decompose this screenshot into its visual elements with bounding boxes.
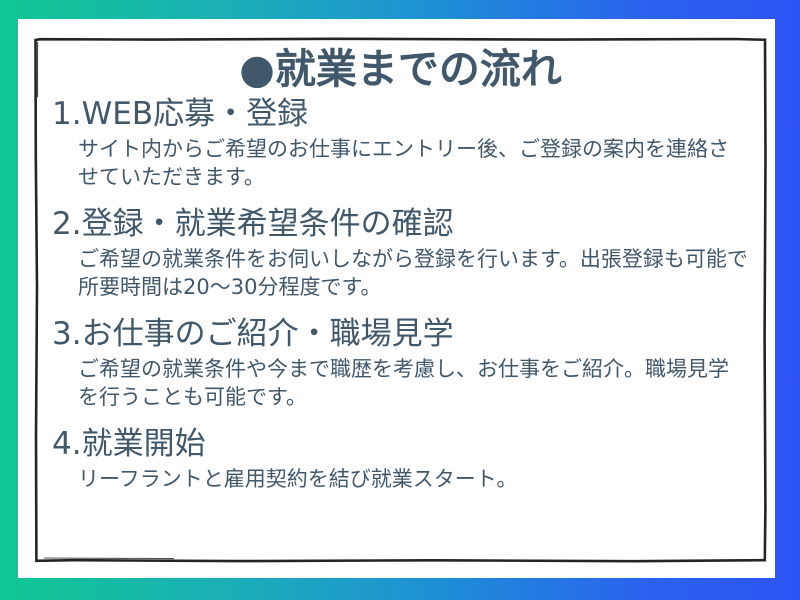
step-heading-1: 1.WEB応募・登録	[52, 95, 749, 135]
page-title: ●就業までの流れ	[52, 47, 749, 91]
step-item-1: 1.WEB応募・登録 サイト内からご希望のお仕事にエントリー後、ご登録の案内を連…	[52, 95, 749, 191]
step-body-2: ご希望の就業条件をお伺いしながら登録を行います。出張登録も可能で所要時間は20〜…	[78, 245, 749, 301]
step-item-2: 2.登録・就業希望条件の確認 ご希望の就業条件をお伺いしながら登録を行います。出…	[52, 205, 749, 301]
step-item-3: 3.お仕事のご紹介・職場見学 ご希望の就業条件や今まで職歴を考慮し、お仕事をご紹…	[52, 315, 749, 411]
step-heading-4: 4.就業開始	[52, 425, 749, 465]
step-heading-2: 2.登録・就業希望条件の確認	[52, 205, 749, 245]
poster-root: ●就業までの流れ 1.WEB応募・登録 サイト内からご希望のお仕事にエントリー後…	[0, 0, 800, 600]
step-body-1: サイト内からご希望のお仕事にエントリー後、ご登録の案内を連絡させていただきます。	[78, 135, 749, 191]
step-body-3: ご希望の就業条件や今まで職歴を考慮し、お仕事をご紹介。職場見学を行うことも可能で…	[78, 355, 749, 411]
step-heading-3: 3.お仕事のご紹介・職場見学	[52, 315, 749, 355]
poster-content: ●就業までの流れ 1.WEB応募・登録 サイト内からご希望のお仕事にエントリー後…	[34, 37, 767, 563]
step-body-4: リーフラントと雇用契約を結び就業スタート。	[78, 465, 749, 493]
step-item-4: 4.就業開始 リーフラントと雇用契約を結び就業スタート。	[52, 425, 749, 493]
